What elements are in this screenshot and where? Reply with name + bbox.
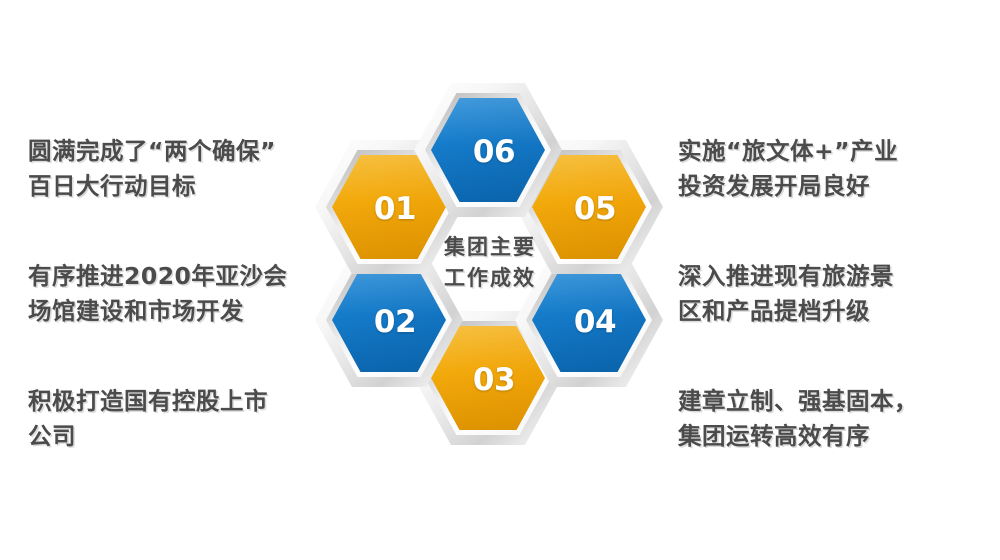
hexagon-06[interactable]: 06 — [414, 83, 562, 217]
right-text-item-1: 实施“旅文体+”产业 投资发展开局良好 — [678, 134, 998, 204]
center-label: 集团主要 工作成效 — [404, 232, 576, 294]
hexagon-number-label: 03 — [473, 362, 515, 398]
hexagon-number-label: 01 — [374, 191, 416, 227]
hexagon-number-label: 02 — [374, 304, 416, 340]
infographic-canvas: 圆满完成了“两个确保” 百日大行动目标 有序推进2020年亚沙会 场馆建设和市场… — [0, 0, 1000, 560]
hexagon-number-label: 04 — [574, 304, 616, 340]
right-text-item-3: 建章立制、强基固本， 集团运转高效有序 — [678, 384, 998, 454]
right-text-item-2: 深入推进现有旅游景 区和产品提档升级 — [678, 259, 998, 329]
hexagon-number-label: 05 — [574, 191, 616, 227]
hexagon-number-label: 06 — [473, 134, 515, 170]
